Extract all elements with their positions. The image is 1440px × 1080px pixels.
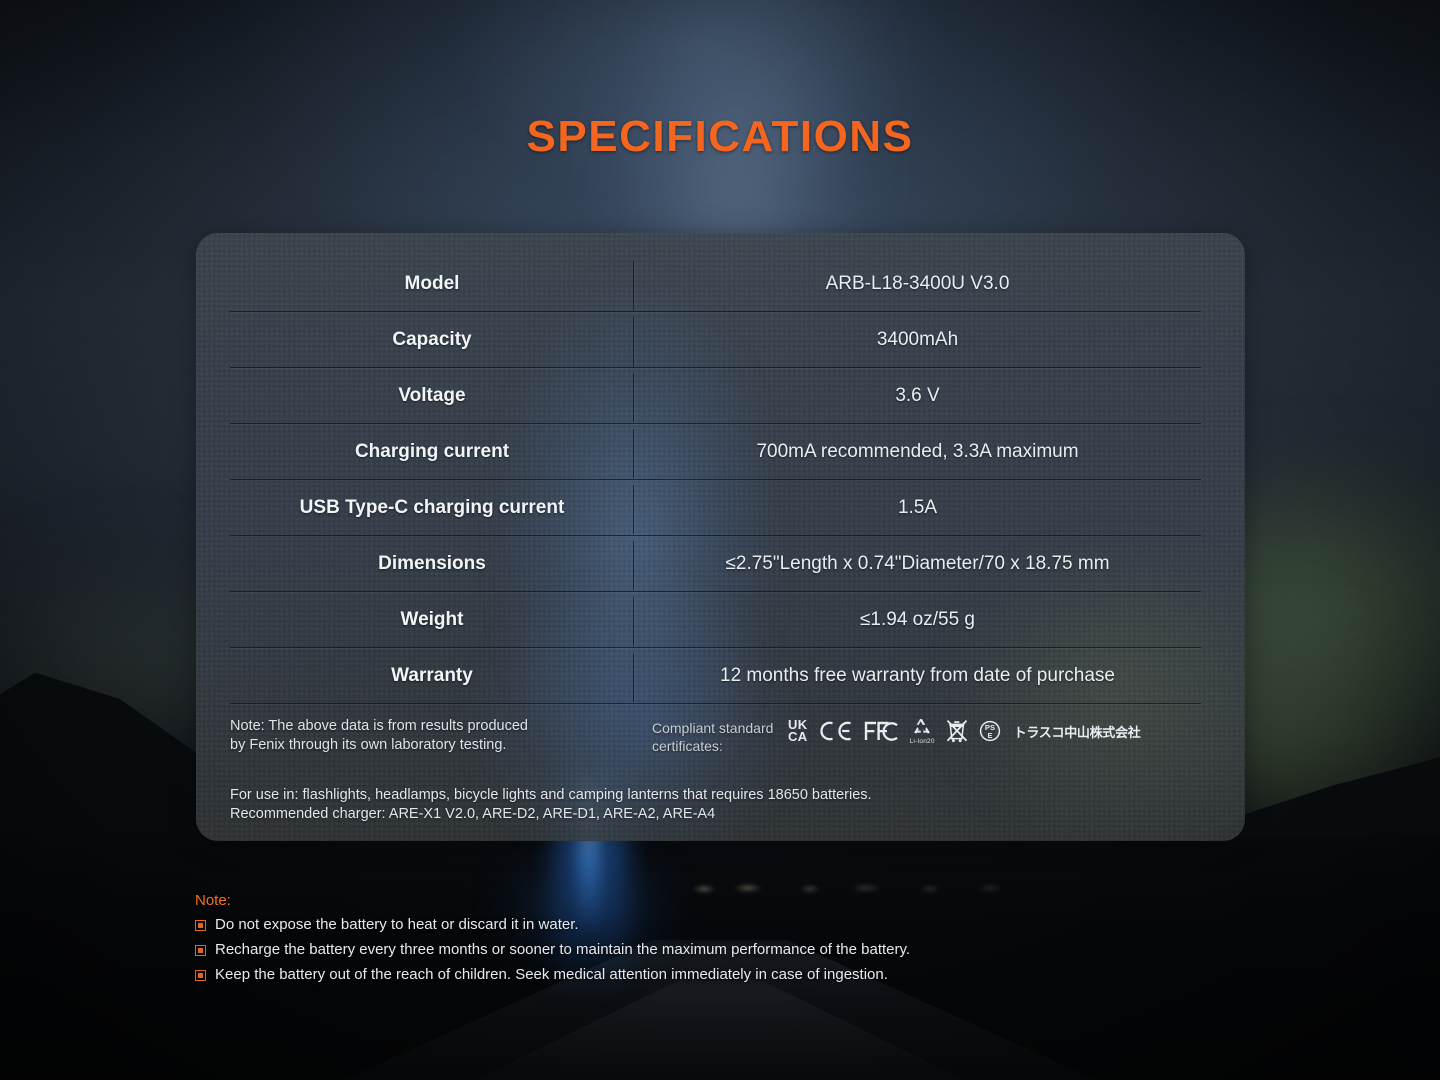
spec-label: Charging current bbox=[230, 424, 634, 479]
pse-mark-icon: PS E bbox=[979, 720, 1001, 742]
usage-note-line1: For use in: flashlights, headlamps, bicy… bbox=[230, 786, 1130, 805]
ukca-line2: CA bbox=[788, 731, 808, 743]
spec-value: ARB-L18-3400U V3.0 bbox=[634, 256, 1201, 311]
table-row: Capacity 3400mAh bbox=[230, 312, 1201, 368]
laboratory-note-line2: by Fenix through its own laboratory test… bbox=[230, 736, 630, 755]
page-title: SPECIFICATIONS bbox=[0, 112, 1440, 162]
list-item-text: Recharge the battery every three months … bbox=[215, 941, 910, 958]
spec-label: Weight bbox=[230, 592, 634, 647]
table-row: Voltage 3.6 V bbox=[230, 368, 1201, 424]
certificates-label-line1: Compliant standard bbox=[652, 719, 778, 737]
spec-value: ≤1.94 oz/55 g bbox=[634, 592, 1201, 647]
usage-note-line2: Recommended charger: ARE-X1 V2.0, ARE-D2… bbox=[230, 805, 1130, 824]
spec-label: USB Type-C charging current bbox=[230, 480, 634, 535]
certificates-label: Compliant standard certificates: bbox=[652, 717, 778, 755]
list-item: Recharge the battery every three months … bbox=[195, 941, 1245, 958]
laboratory-note-line1: Note: The above data is from results pro… bbox=[230, 717, 630, 736]
spec-value: 1.5A bbox=[634, 480, 1201, 535]
ce-mark-icon bbox=[819, 721, 853, 741]
usage-note: For use in: flashlights, headlamps, bicy… bbox=[230, 786, 1130, 824]
table-row: USB Type-C charging current 1.5A bbox=[230, 480, 1201, 536]
svg-text:E: E bbox=[987, 733, 992, 740]
spec-label: Capacity bbox=[230, 312, 634, 367]
spec-value: 3.6 V bbox=[634, 368, 1201, 423]
table-row: Charging current 700mA recommended, 3.3A… bbox=[230, 424, 1201, 480]
list-item-text: Keep the battery out of the reach of chi… bbox=[215, 966, 888, 983]
certificates-label-line2: certificates: bbox=[652, 737, 778, 755]
recycle-caption: Li-Ion20 bbox=[910, 738, 935, 745]
bottom-notes-title: Note: bbox=[195, 892, 1245, 909]
certificate-marks: UK CA bbox=[788, 717, 1140, 745]
list-item-text: Do not expose the battery to heat or dis… bbox=[215, 916, 579, 933]
square-bullet-icon bbox=[195, 920, 206, 931]
laboratory-note: Note: The above data is from results pro… bbox=[230, 717, 630, 755]
card-content: Model ARB-L18-3400U V3.0 Capacity 3400mA… bbox=[196, 233, 1245, 841]
list-item: Keep the battery out of the reach of chi… bbox=[195, 966, 1245, 983]
square-bullet-icon bbox=[195, 970, 206, 981]
spec-value: 12 months free warranty from date of pur… bbox=[634, 648, 1201, 703]
square-bullet-icon bbox=[195, 945, 206, 956]
spec-label: Voltage bbox=[230, 368, 634, 423]
table-row: Warranty 12 months free warranty from da… bbox=[230, 648, 1201, 704]
spec-value: 700mA recommended, 3.3A maximum bbox=[634, 424, 1201, 479]
table-row: Model ARB-L18-3400U V3.0 bbox=[230, 256, 1201, 312]
spec-value: 3400mAh bbox=[634, 312, 1201, 367]
table-row: Weight ≤1.94 oz/55 g bbox=[230, 592, 1201, 648]
svg-text:PS: PS bbox=[985, 723, 995, 732]
spec-label: Model bbox=[230, 256, 634, 311]
specifications-card: Model ARB-L18-3400U V3.0 Capacity 3400mA… bbox=[196, 233, 1245, 841]
certificates-block: Compliant standard certificates: UK CA bbox=[652, 717, 1140, 755]
spec-table: Model ARB-L18-3400U V3.0 Capacity 3400mA… bbox=[230, 256, 1201, 704]
note-and-certificates-area: Note: The above data is from results pro… bbox=[230, 717, 1201, 755]
trusco-nakayama-text: トラスコ中山株式会社 bbox=[1014, 722, 1141, 741]
spec-label: Dimensions bbox=[230, 536, 634, 591]
spec-value: ≤2.75"Length x 0.74"Diameter/70 x 18.75 … bbox=[634, 536, 1201, 591]
weee-crossed-bin-mark-icon bbox=[946, 719, 968, 743]
spec-label: Warranty bbox=[230, 648, 634, 703]
fcc-mark-icon bbox=[864, 721, 899, 742]
recycle-mark-icon: Li-Ion20 bbox=[910, 717, 935, 745]
ukca-mark-icon: UK CA bbox=[788, 719, 808, 743]
bottom-notes: Note: Do not expose the battery to heat … bbox=[195, 892, 1245, 991]
specifications-page: SPECIFICATIONS Model ARB-L18-3400U V3.0 … bbox=[0, 0, 1440, 1080]
list-item: Do not expose the battery to heat or dis… bbox=[195, 916, 1245, 933]
table-row: Dimensions ≤2.75"Length x 0.74"Diameter/… bbox=[230, 536, 1201, 592]
